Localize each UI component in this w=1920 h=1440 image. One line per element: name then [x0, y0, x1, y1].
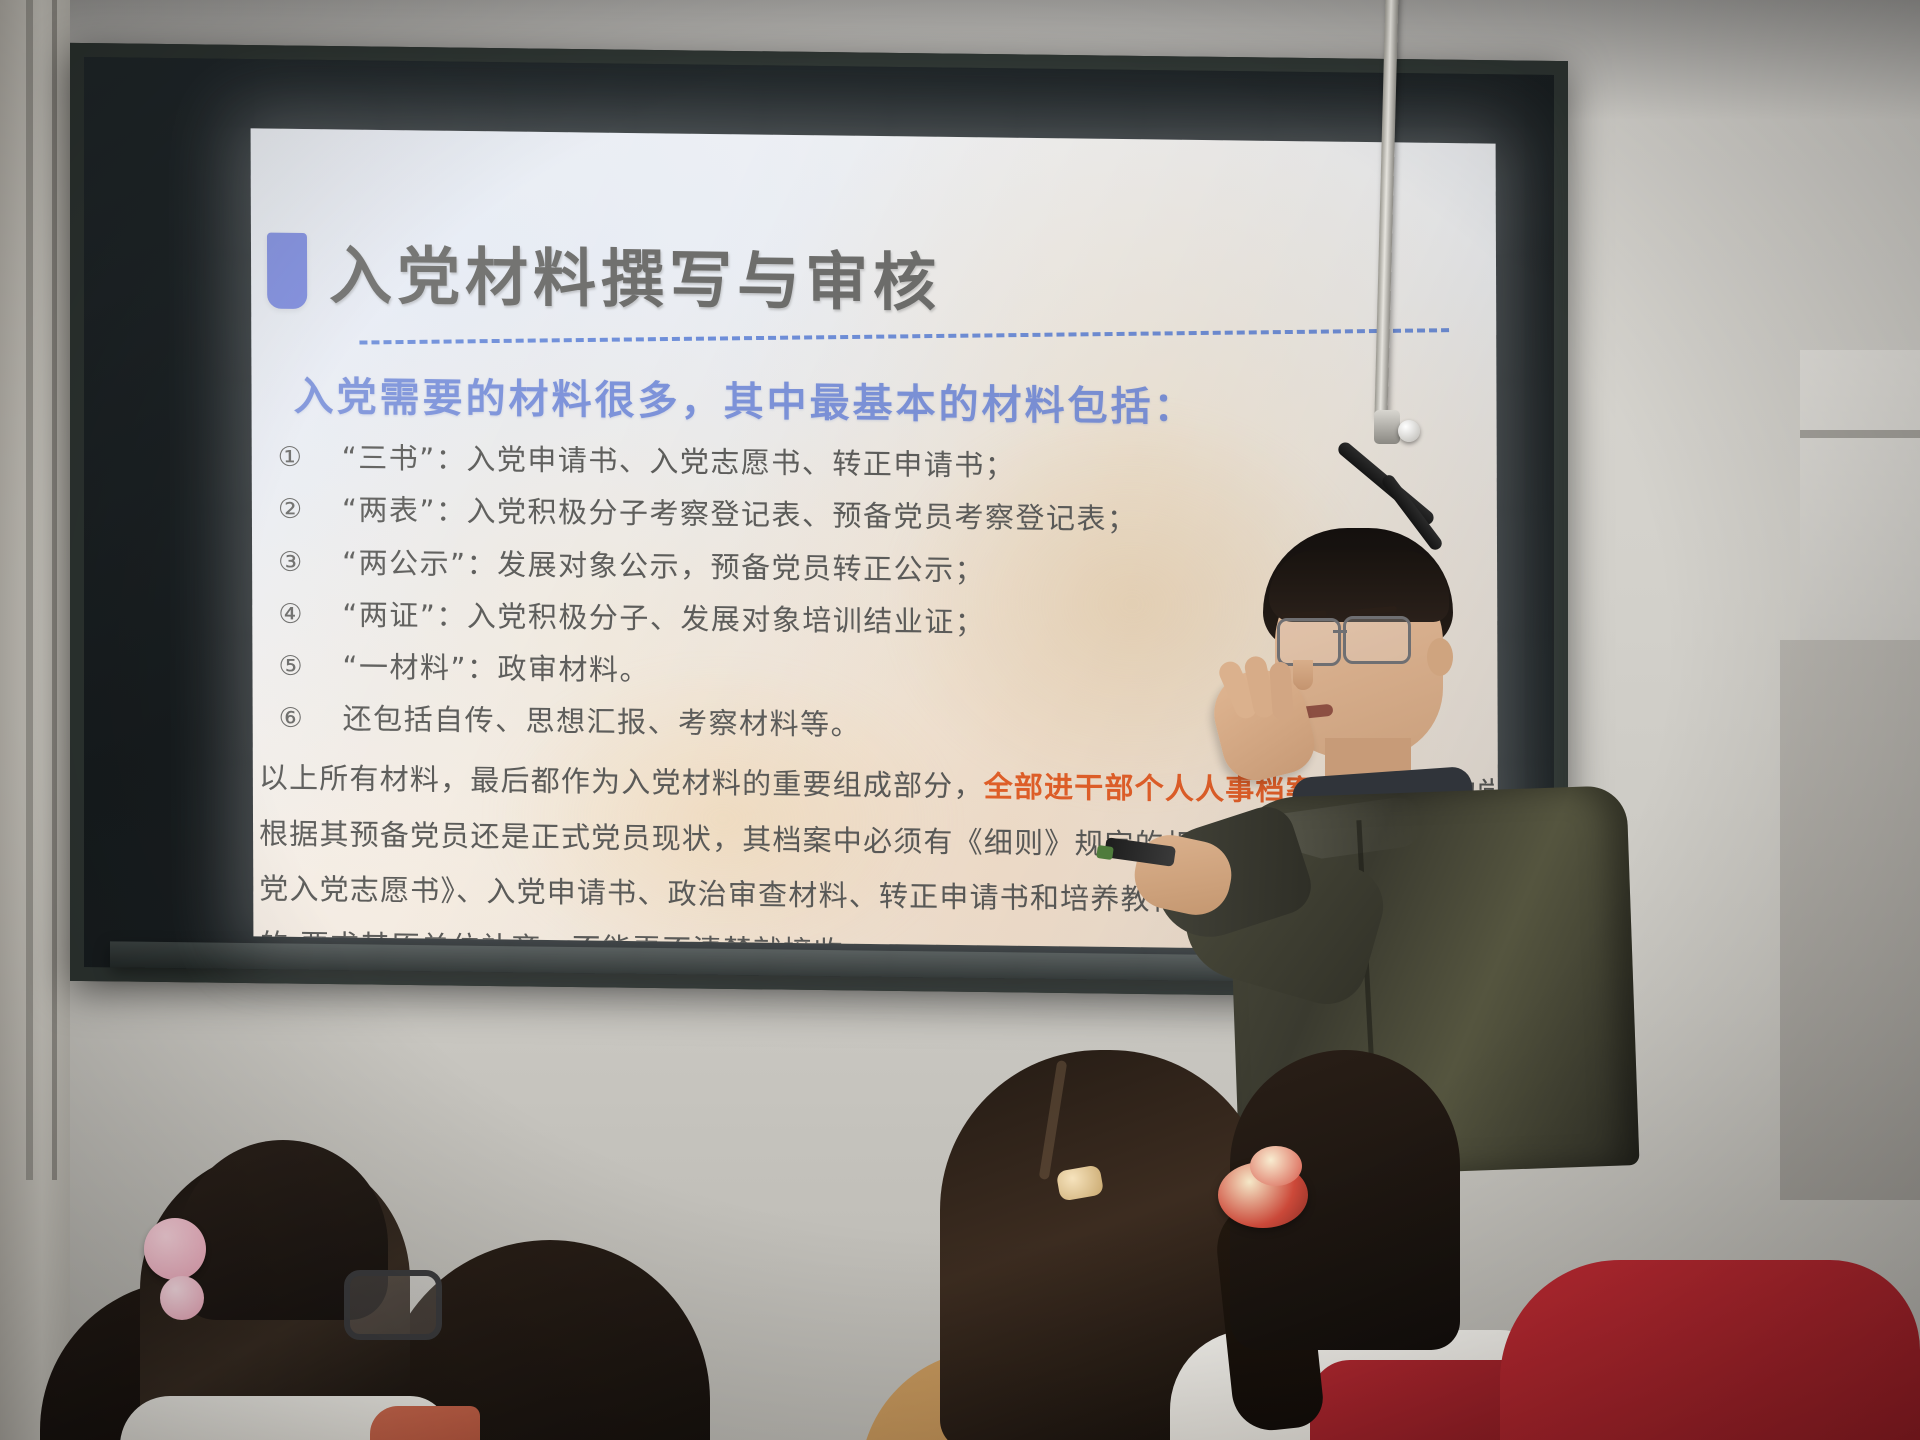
presenter-glasses-right-lens: [1343, 616, 1411, 664]
microphone-icon: [1398, 420, 1420, 442]
presenter-ear: [1427, 638, 1453, 676]
list-item-text: “三书”：入党申请书、入党志愿书、转正申请书；: [342, 439, 1016, 483]
left-wall-edge-secondary: [52, 0, 57, 1180]
student-scarf: [370, 1406, 480, 1440]
student-far-right: [1500, 1200, 1920, 1440]
classroom-scene: 入党材料撰写与审核 入党需要的材料很多，其中最基本的材料包括： ① “三书”：入…: [0, 0, 1920, 1440]
right-wall-shadow: [1780, 640, 1920, 1200]
presenter-finger: [1269, 661, 1294, 720]
slide-title-row: 入党材料撰写与审核: [267, 225, 941, 324]
slide-title: 入党材料撰写与审核: [329, 225, 941, 323]
list-item-number: ④: [278, 595, 342, 630]
presenter-glasses-bridge: [1333, 630, 1347, 633]
student-hair-clip: [144, 1218, 206, 1280]
left-wall-edge: [26, 0, 33, 1180]
list-item-text: 还包括自传、思想汇报、考察材料等。: [343, 701, 862, 744]
student-right-with-scrunchie: [1190, 1040, 1530, 1440]
slide-subtitle: 入党需要的材料很多，其中最基本的材料包括：: [293, 364, 1196, 433]
right-window-frame: [1800, 430, 1920, 438]
right-window: [1800, 350, 1920, 650]
student-hair-clip-secondary: [160, 1276, 204, 1320]
list-item-text: “两表”：入党积极分子考察登记表、预备党员考察登记表；: [342, 492, 1138, 538]
student-shirt: [1500, 1260, 1920, 1440]
list-item-text: “两证”：入党积极分子、发展对象培训结业证；: [342, 596, 985, 640]
paragraph-plain: 以上所有材料，最后都作为入党材料的重要组成部分，: [259, 760, 984, 803]
list-item-text: “一材料”：政审材料。: [342, 648, 650, 688]
list-item-text: “两公示”：发展对象公示，预备党员转正公示；: [342, 544, 985, 588]
list-item-number: ②: [278, 491, 342, 526]
pole-joint: [1374, 410, 1400, 444]
laser-pointer-tip: [1096, 845, 1114, 860]
student-glasses: [344, 1270, 442, 1340]
list-item-number: ①: [278, 439, 342, 474]
list-item-number: ③: [278, 543, 342, 578]
list-item-number: ⑥: [279, 700, 343, 735]
title-dashed-divider: [359, 328, 1449, 347]
presenter-glasses-left-lens: [1277, 618, 1341, 666]
list-item-number: ⑤: [278, 648, 342, 683]
student-scrunchie-highlight: [1250, 1146, 1302, 1186]
title-accent-mark: [267, 232, 307, 308]
student-front-left-with-glasses: [120, 1110, 450, 1440]
